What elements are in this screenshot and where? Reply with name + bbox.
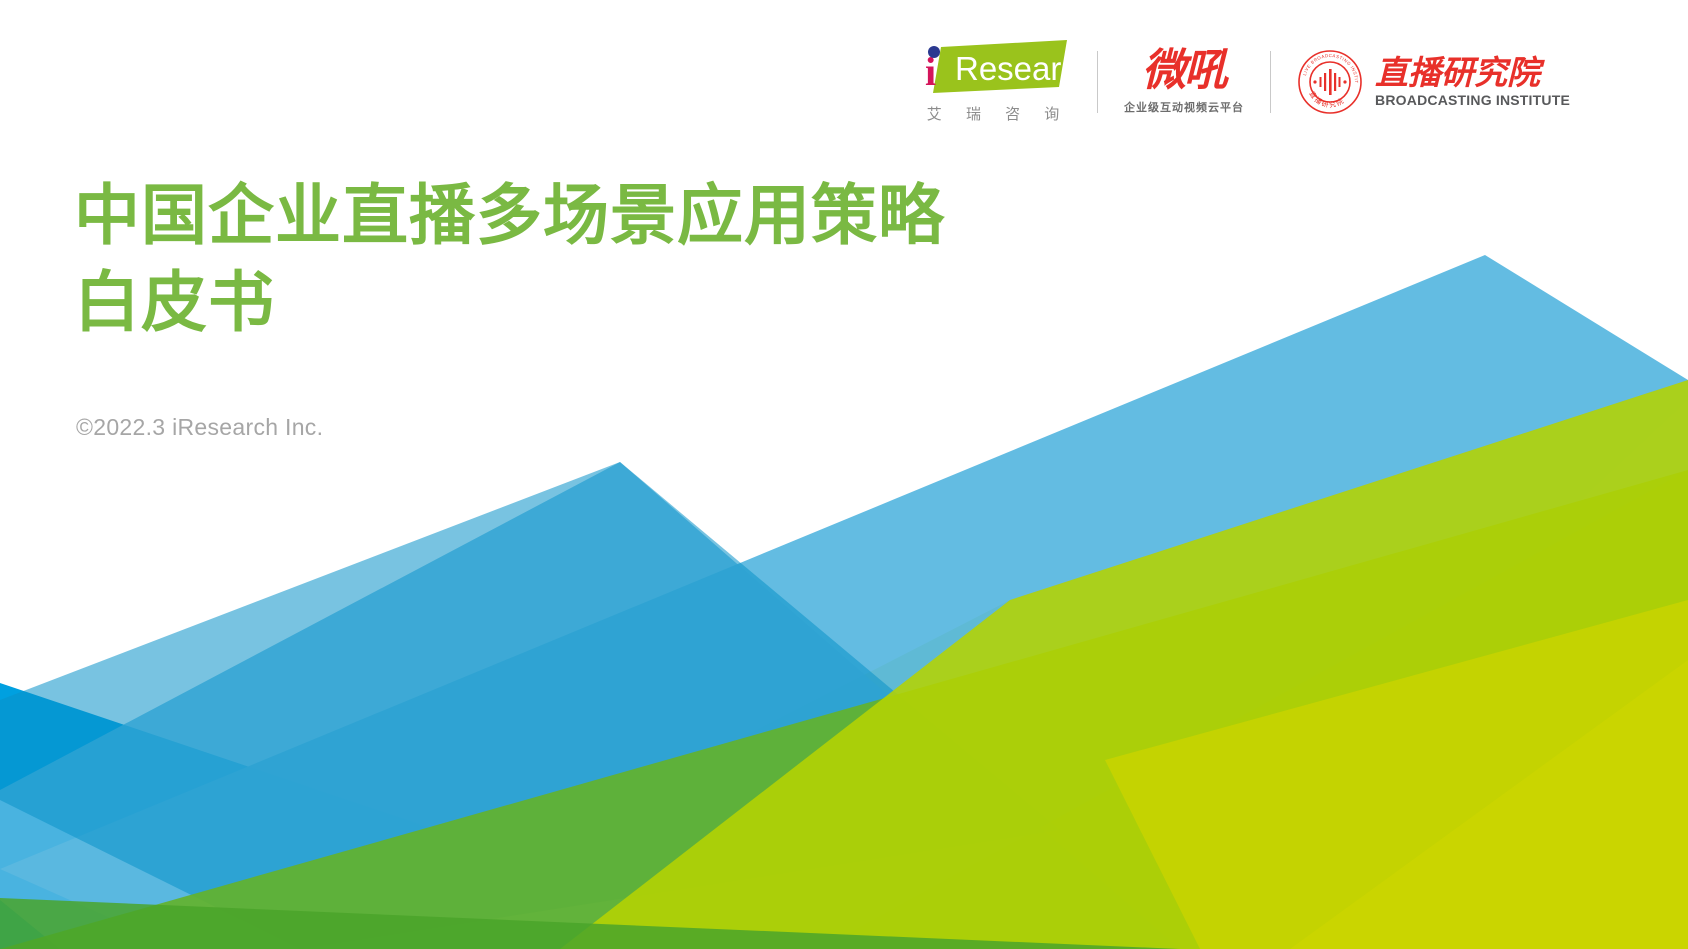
iresearch-wordmark: Research [955,50,1071,87]
page-title: 中国企业直播多场景应用策略 白皮书 [74,172,945,346]
broadcasting-institute-subtitle: BROADCASTING INSTITUTE [1375,92,1570,108]
page-title-line-2: 白皮书 [74,259,945,346]
partner-logo-bar: Research i 艾 瑞 咨 询 微吼 企业级互动视频云平台 [915,40,1570,124]
seal-bottom-text: 直播研究院 [1308,90,1347,110]
iresearch-dot-icon [928,46,940,58]
whitepaper-cover-page: Research i 艾 瑞 咨 询 微吼 企业级互动视频云平台 [0,0,1688,949]
logo-divider-2 [1270,51,1271,113]
logo-iresearch: Research i 艾 瑞 咨 询 [915,40,1071,124]
logo-divider-1 [1097,51,1098,113]
copyright-notice: ©2022.3 iResearch Inc. [76,414,323,441]
logo-weihou: 微吼 企业级互动视频云平台 [1124,49,1244,115]
iresearch-mark-icon: Research i [915,40,1071,96]
weihou-wordmark: 微吼 [1142,49,1226,93]
background-geometric-art [0,0,1688,949]
weihou-subtitle: 企业级互动视频云平台 [1124,99,1244,115]
iresearch-subtitle: 艾 瑞 咨 询 [917,103,1070,124]
broadcasting-institute-wordmark: 直播研究院 [1375,56,1540,91]
page-title-line-1: 中国企业直播多场景应用策略 [74,172,945,259]
broadcasting-institute-seal-icon: LIVE BROADCASTING INSTITUTE 直播研究院 [1297,49,1363,115]
logo-broadcasting-institute: LIVE BROADCASTING INSTITUTE 直播研究院 直播研究院 … [1297,49,1570,115]
